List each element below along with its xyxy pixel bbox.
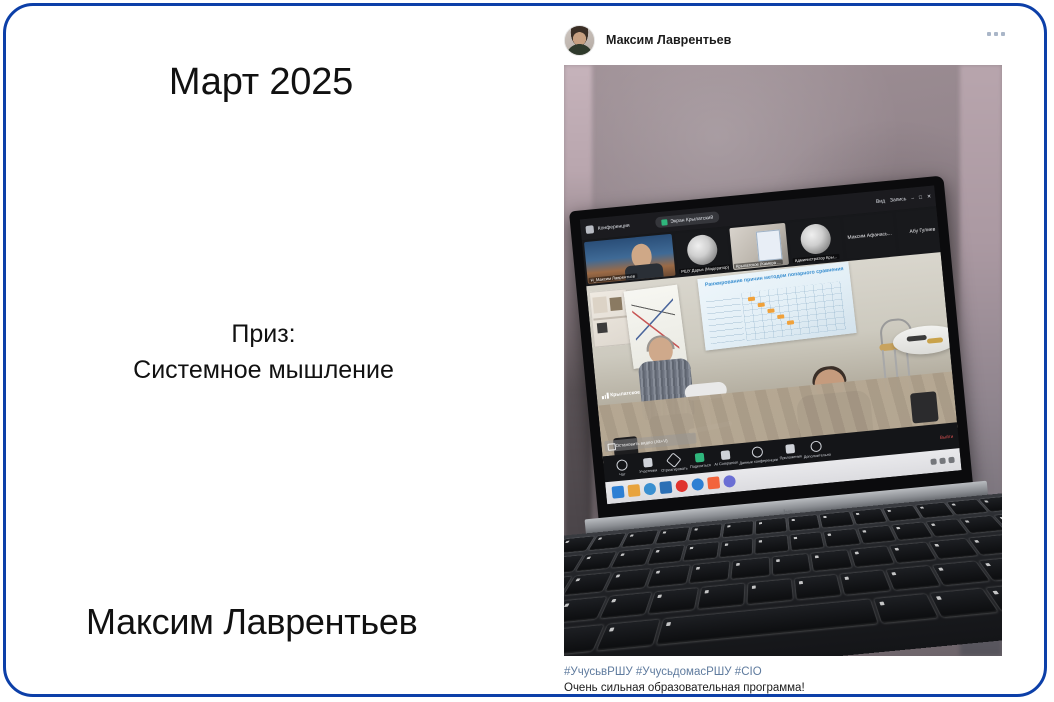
info-icon (752, 446, 764, 458)
participant-avatar-icon (799, 223, 832, 256)
telegram-icon[interactable] (691, 478, 704, 491)
tray-icon-3[interactable] (948, 457, 955, 464)
prize-value: Системное мышление (6, 352, 521, 388)
window-minimize-icon: – (911, 195, 914, 201)
more-icon (810, 440, 822, 452)
toolbar-participants[interactable]: Участники (634, 456, 661, 473)
projected-slide-rows (706, 296, 745, 344)
ai-sparkle-icon (721, 450, 731, 460)
zoom-topbar-right: Вид Запись – □ ✕ (876, 193, 932, 204)
presentation-slide: Март 2025 Приз: Системное мышление Макси… (3, 3, 1047, 697)
taskbar-tray (930, 457, 954, 465)
post-caption: #УчусьвРШУ #УчусьдомасРШУ #CIO Очень сил… (564, 664, 994, 696)
laptop: Конференция Экран Крылатский Вид Запись … (564, 173, 1002, 656)
toolbar-meeting-info[interactable]: Данные конференции (738, 444, 778, 465)
table-item-1 (907, 335, 927, 342)
app-icon[interactable] (723, 475, 736, 488)
chat-icon (615, 459, 627, 471)
slide-text-column: Март 2025 Приз: Системное мышление Макси… (6, 6, 551, 697)
stop-video-label: Остановить видео (Alt+V) (615, 438, 667, 448)
classroom-bin-right (910, 391, 939, 423)
window-close-icon: ✕ (927, 193, 932, 199)
dot-1 (987, 32, 991, 36)
toolbar-share[interactable]: Поделиться (686, 451, 713, 468)
participant-tile-screen: Крылатское (Камера ... (729, 223, 789, 270)
zoom-sharing-pill: Экран Крылатский (655, 211, 720, 228)
toolbar-chat[interactable]: Чат (608, 458, 636, 477)
post-header: Максим Лаврентьев (564, 22, 1004, 58)
post-author-name: Максим Лаврентьев (606, 33, 731, 47)
page-title: Март 2025 (6, 61, 516, 104)
shelf-item-3 (597, 322, 608, 333)
participant-name: Абу Гулиев (909, 227, 935, 235)
zoom-meeting-label: Конференция (597, 222, 629, 231)
apps-icon (785, 444, 795, 454)
post-hashtags[interactable]: #УчусьвРШУ #УчусьдомасРШУ #CIO (564, 664, 994, 680)
shelf-divider (593, 315, 627, 320)
shelf-item-1 (592, 296, 607, 313)
edge-icon[interactable] (643, 482, 656, 495)
zoom-app-icon (585, 225, 594, 234)
prize-label: Приз: (6, 316, 521, 352)
toolbar-more[interactable]: Дополнительно (802, 439, 831, 459)
shared-document-icon (756, 229, 783, 261)
projected-slide: Ранжирование причин методом попарного ср… (697, 261, 856, 350)
share-indicator-icon (661, 219, 668, 226)
window-maximize-icon: □ (919, 194, 923, 200)
projected-slide-grid (741, 281, 846, 340)
participant-tile-video: Н_Максим Лаврентьев (584, 234, 676, 284)
prize-block: Приз: Системное мышление (6, 316, 521, 388)
zoom-taskbar-icon[interactable] (707, 476, 720, 489)
laptop-lid: Конференция Экран Крылатский Вид Запись … (569, 175, 973, 522)
zoom-sharing-label: Экран Крылатский (670, 214, 713, 224)
signal-icon (602, 393, 609, 400)
shelf-item-2 (609, 297, 622, 311)
participant-tile-label: Максим Афанась... (843, 213, 897, 260)
more-options-icon[interactable] (987, 32, 1005, 36)
toolbar-react[interactable]: Отреагировать (660, 453, 688, 472)
participant-name: Максим Афанась... (847, 231, 892, 241)
avatar (564, 25, 595, 56)
post-caption-text: Очень сильная образовательная программа! (564, 680, 994, 696)
table-item-2 (927, 337, 943, 344)
dot-3 (1001, 32, 1005, 36)
reaction-icon (666, 452, 681, 467)
tray-icon-2[interactable] (939, 458, 946, 465)
social-post-card: Максим Лаврентьев Конференц (551, 6, 1011, 697)
participant-tile-avatar: РШУ Дарья (Модератор) (675, 229, 731, 276)
participants-icon (642, 457, 652, 467)
participant-badge-icon (947, 218, 960, 231)
opera-icon[interactable] (675, 479, 688, 492)
zoom-view-label: Вид (876, 198, 886, 205)
toolbar-ai-companion[interactable]: AI Companion (712, 449, 739, 466)
participant-avatar-icon (686, 234, 719, 267)
leave-meeting-button[interactable]: Выйти (940, 433, 954, 439)
participant-tile-avatar: Администратор Кры... (788, 218, 844, 265)
tray-icon-1[interactable] (930, 458, 937, 465)
dot-2 (994, 32, 998, 36)
laptop-screen: Конференция Экран Крылатский Вид Запись … (580, 185, 962, 504)
avatar-image (565, 26, 594, 55)
share-screen-icon (695, 452, 705, 462)
zoom-record-label: Запись (890, 196, 907, 204)
windows-start-icon[interactable] (612, 486, 625, 499)
participant-tile-label: Абу Гулиев (896, 207, 950, 254)
zoom-topbar-left: Конференция (585, 221, 630, 233)
toolbar-apps[interactable]: Приложения (776, 443, 803, 460)
post-photo[interactable]: Конференция Экран Крылатский Вид Запись … (564, 65, 1002, 656)
store-icon[interactable] (659, 481, 672, 494)
speaker-name: Максим Лаврентьев (86, 601, 417, 643)
explorer-icon[interactable] (627, 484, 640, 497)
pinned-participant-label: Крылатское (602, 390, 641, 400)
